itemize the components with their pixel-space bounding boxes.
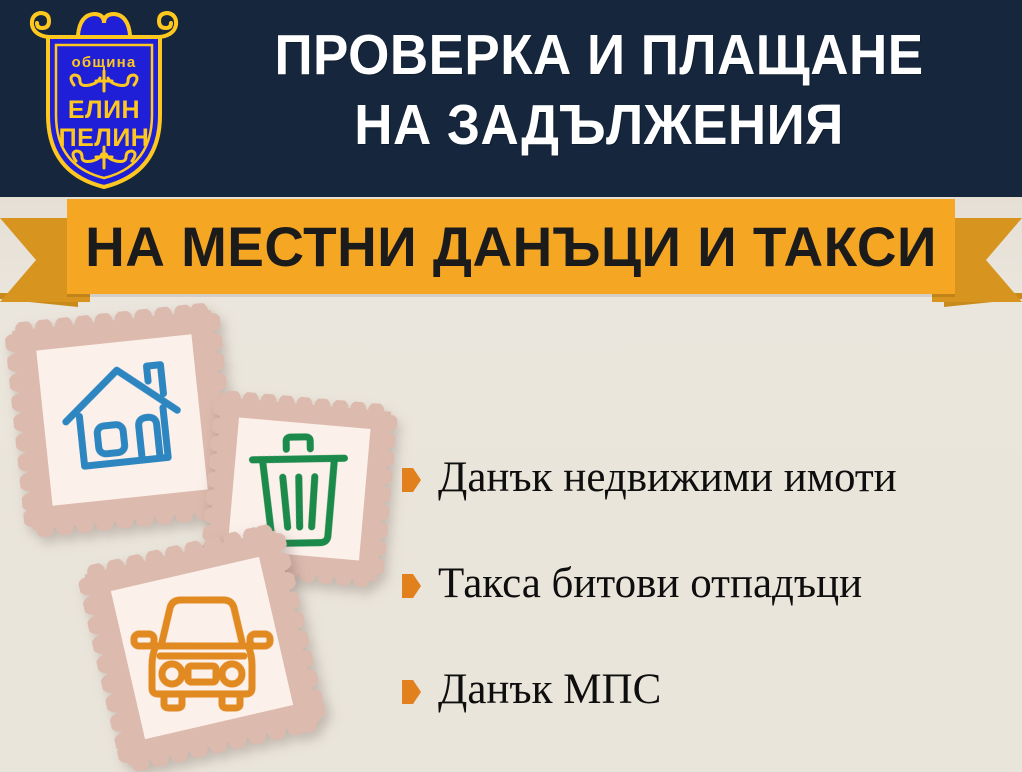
municipality-logo: община ЕЛИН ПЕЛИН — [18, 5, 190, 193]
arrow-bullet-icon — [402, 574, 421, 598]
list-item[interactable]: Данък МПС — [402, 637, 1017, 743]
list-item[interactable]: Данък недвижими имоти — [402, 425, 1017, 531]
tax-types-list: Данък недвижими имоти Такса битови отпад… — [402, 425, 1017, 743]
page-title-line-1: ПРОВЕРКА И ПЛАЩАНЕ — [224, 20, 974, 90]
logo-name-line1: ЕЛИН — [68, 96, 140, 124]
list-item-label: Такса битови отпадъци — [438, 561, 862, 606]
logo-community-word: община — [72, 54, 137, 71]
list-item-label: Данък недвижими имоти — [438, 455, 897, 500]
list-item-label: Данък МПС — [438, 667, 661, 712]
poster-canvas: община ЕЛИН ПЕЛИН ПРОВЕРКА И ПЛАЩАНЕ НА … — [0, 0, 1022, 772]
page-title: ПРОВЕРКА И ПЛАЩАНЕ НА ЗАДЪЛЖЕНИЯ — [224, 20, 974, 160]
list-item[interactable]: Такса битови отпадъци — [402, 531, 1017, 637]
arrow-bullet-icon — [402, 468, 421, 492]
arrow-bullet-icon — [402, 680, 421, 704]
ribbon-label: НА МЕСТНИ ДАНЪЦИ И ТАКСИ — [76, 199, 946, 294]
page-title-line-2: НА ЗАДЪЛЖЕНИЯ — [224, 90, 974, 160]
subtitle-ribbon: НА МЕСТНИ ДАНЪЦИ И ТАКСИ — [0, 197, 1022, 315]
